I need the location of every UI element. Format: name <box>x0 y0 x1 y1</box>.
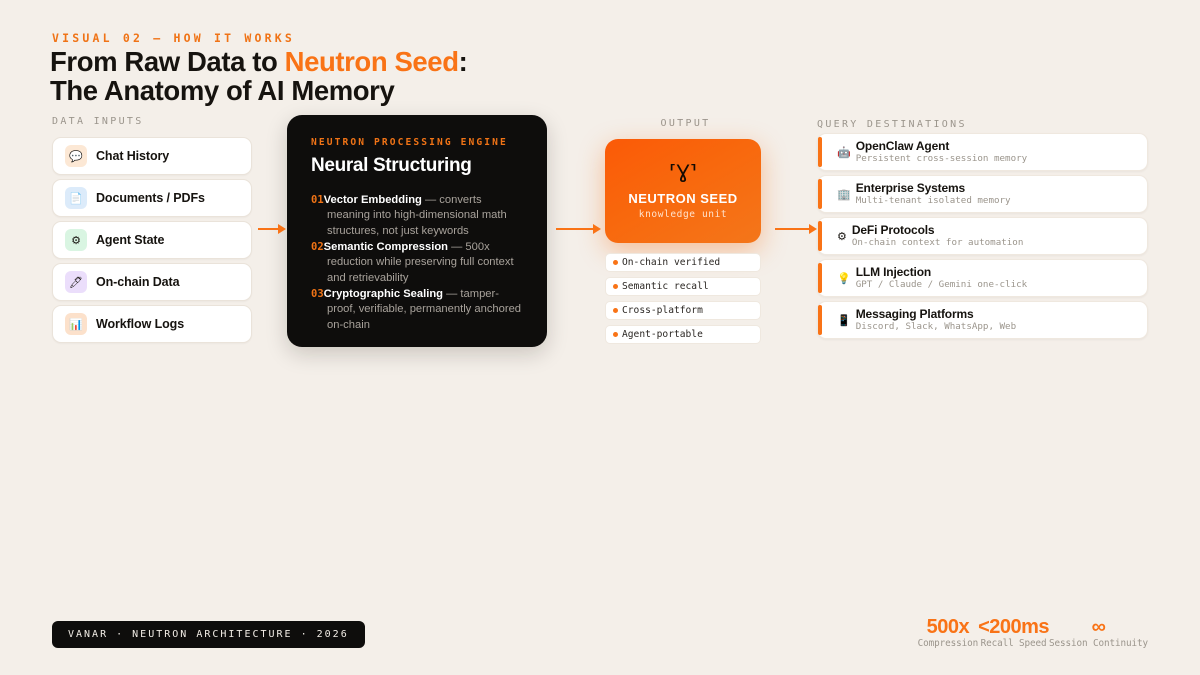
seed-subtitle: knowledge unit <box>639 209 727 220</box>
engine-step-term: Semantic Compression <box>324 241 448 253</box>
mobile-phone-icon: 📱 <box>837 314 851 327</box>
arrow-seed-to-destinations <box>775 224 817 234</box>
chip-dot-icon <box>613 332 618 337</box>
engine-step: 01Vector Embedding — converts meaning in… <box>311 193 525 239</box>
footer-stat-label: Session Continuity <box>1049 638 1148 649</box>
speech-bubble-icon: 💬 <box>65 145 87 167</box>
destination-name: Enterprise Systems <box>856 182 1011 196</box>
lightbulb-icon: 💡 <box>837 272 851 285</box>
slide-canvas: VISUAL 02 — HOW IT WORKS From Raw Data t… <box>0 0 1200 675</box>
engine-step: 03Cryptographic Sealing — tamper-proof, … <box>311 287 525 333</box>
footer-stat-value: 500x <box>918 617 978 638</box>
seed-chip: Cross-platform <box>605 301 761 320</box>
arrow-engine-to-seed <box>556 224 601 234</box>
engine-steps: 01Vector Embedding — converts meaning in… <box>311 193 525 333</box>
input-card[interactable]: ⚙Agent State <box>52 221 252 259</box>
destination-card[interactable]: ⚙DeFi ProtocolsOn-chain context for auto… <box>817 217 1148 255</box>
footer-stat: 500xCompression <box>918 617 978 649</box>
destination-subtitle: Discord, Slack, WhatsApp, Web <box>856 322 1016 333</box>
destination-card[interactable]: 🤖OpenClaw AgentPersistent cross-session … <box>817 133 1148 171</box>
destination-card[interactable]: 🏢Enterprise SystemsMulti-tenant isolated… <box>817 175 1148 213</box>
robot-icon: 🤖 <box>837 146 851 159</box>
input-card[interactable]: 💬Chat History <box>52 137 252 175</box>
engine-step: 02Semantic Compression — 500x reduction … <box>311 240 525 286</box>
engine-step-number: 01 <box>311 194 324 206</box>
building-icon: 🏢 <box>837 188 851 201</box>
link-pen-icon: 🖊 <box>65 271 87 293</box>
chip-dot-icon <box>613 260 618 265</box>
engine-step-term: Vector Embedding <box>324 194 422 206</box>
destination-subtitle: Multi-tenant isolated memory <box>856 196 1011 207</box>
engine-step-number: 02 <box>311 241 324 253</box>
destination-text: LLM InjectionGPT / Claude / Gemini one-c… <box>856 266 1027 290</box>
footer-stat-value: ∞ <box>1049 617 1148 638</box>
destinations-caption: QUERY DESTINATIONS <box>817 119 967 130</box>
engine-eyebrow: NEUTRON PROCESSING ENGINE <box>311 137 525 148</box>
destination-subtitle: Persistent cross-session memory <box>856 154 1027 165</box>
title-accent: Neutron Seed <box>285 46 459 77</box>
input-card-label: On-chain Data <box>96 275 179 289</box>
page-title: From Raw Data to Neutron Seed: The Anato… <box>50 48 467 105</box>
chip-label: On-chain verified <box>622 257 720 268</box>
query-destinations-list: 🤖OpenClaw AgentPersistent cross-session … <box>817 133 1148 343</box>
footer-stats: 500xCompression<200msRecall Speed∞Sessio… <box>918 617 1148 649</box>
input-card[interactable]: 🖊On-chain Data <box>52 263 252 301</box>
footer-stat-label: Recall Speed <box>978 638 1049 649</box>
destination-card[interactable]: 💡LLM InjectionGPT / Claude / Gemini one-… <box>817 259 1148 297</box>
destination-text: Messaging PlatformsDiscord, Slack, Whats… <box>856 308 1016 332</box>
processing-engine-panel: NEUTRON PROCESSING ENGINE Neural Structu… <box>287 115 547 347</box>
destination-text: Enterprise SystemsMulti-tenant isolated … <box>856 182 1011 206</box>
tools-icon: ⚙ <box>837 230 847 243</box>
destination-name: Messaging Platforms <box>856 308 1016 322</box>
seed-chip: On-chain verified <box>605 253 761 272</box>
chip-label: Semantic recall <box>622 281 709 292</box>
chip-label: Agent-portable <box>622 329 703 340</box>
input-card-label: Agent State <box>96 233 164 247</box>
output-caption: OUTPUT <box>608 118 763 129</box>
seed-attribute-chips: On-chain verifiedSemantic recallCross-pl… <box>605 253 761 349</box>
input-card-label: Workflow Logs <box>96 317 184 331</box>
destination-text: DeFi ProtocolsOn-chain context for autom… <box>852 224 1023 248</box>
input-card-label: Chat History <box>96 149 169 163</box>
footer-stat-value: <200ms <box>978 617 1049 638</box>
chip-label: Cross-platform <box>622 305 703 316</box>
engine-step-number: 03 <box>311 288 324 300</box>
footer-stat: ∞Session Continuity <box>1049 617 1148 649</box>
gear-target-icon: ⚙ <box>65 229 87 251</box>
neutron-seed-card: ⸢Ɣ⸣ NEUTRON SEED knowledge unit <box>605 139 761 243</box>
chip-dot-icon <box>613 284 618 289</box>
input-card-label: Documents / PDFs <box>96 191 205 205</box>
document-icon: 📄 <box>65 187 87 209</box>
input-card[interactable]: 📊Workflow Logs <box>52 305 252 343</box>
seed-chip: Semantic recall <box>605 277 761 296</box>
footer-stat-label: Compression <box>918 638 978 649</box>
input-card[interactable]: 📄Documents / PDFs <box>52 179 252 217</box>
footer-stat: <200msRecall Speed <box>978 617 1049 649</box>
destination-name: DeFi Protocols <box>852 224 1023 238</box>
bar-chart-icon: 📊 <box>65 313 87 335</box>
footer-badge: VANAR · NEUTRON ARCHITECTURE · 2026 <box>52 621 365 648</box>
destination-text: OpenClaw AgentPersistent cross-session m… <box>856 140 1027 164</box>
arrow-inputs-to-engine <box>258 224 286 234</box>
destination-subtitle: On-chain context for automation <box>852 238 1023 249</box>
seed-title: NEUTRON SEED <box>628 191 737 206</box>
title-part1: From Raw Data to <box>50 46 285 77</box>
destination-name: LLM Injection <box>856 266 1027 280</box>
data-inputs-list: 💬Chat History📄Documents / PDFs⚙Agent Sta… <box>52 137 252 347</box>
seedling-network-icon: ⸢Ɣ⸣ <box>669 163 697 182</box>
destination-subtitle: GPT / Claude / Gemini one-click <box>856 280 1027 291</box>
destination-name: OpenClaw Agent <box>856 140 1027 154</box>
seed-chip: Agent-portable <box>605 325 761 344</box>
inputs-caption: DATA INPUTS <box>52 116 144 127</box>
engine-title: Neural Structuring <box>311 155 525 177</box>
destination-card[interactable]: 📱Messaging PlatformsDiscord, Slack, What… <box>817 301 1148 339</box>
slide-eyebrow: VISUAL 02 — HOW IT WORKS <box>52 31 295 45</box>
chip-dot-icon <box>613 308 618 313</box>
engine-step-term: Cryptographic Sealing <box>324 288 443 300</box>
